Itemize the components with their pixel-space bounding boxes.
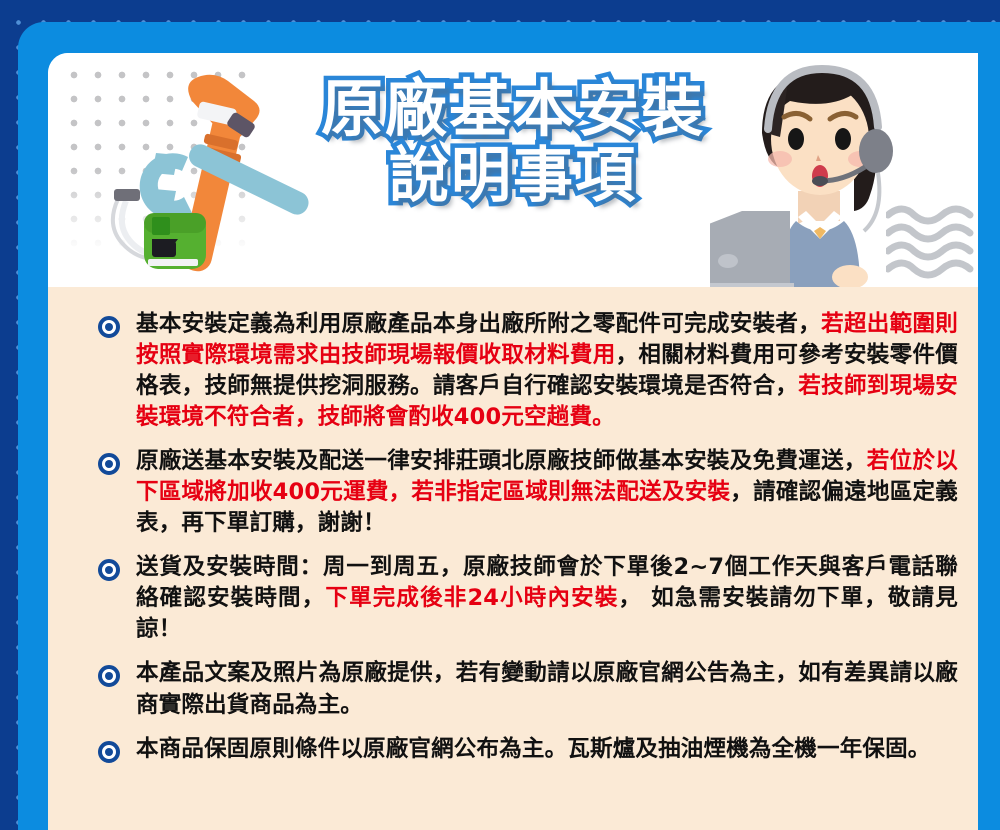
notice-item-delivery-schedule: 送貨及安裝時間：周一到周五，原廠技師會於下單後2~7個工作天與客戶電話聯絡確認安… [66,552,962,645]
notice-text: 基本安裝定義為利用原廠產品本身出廠所附之零配件可完成安裝者，若超出範圍則按照實際… [136,309,962,433]
notice-plain-segment: 原廠送基本安裝及配送一律安排莊頭北原廠技師做基本安裝及免費運送， [136,448,867,474]
bullet-target-icon [98,741,120,763]
notice-item-basic-installation-definition: 基本安裝定義為利用原廠產品本身出廠所附之零配件可完成安裝者，若超出範圍則按照實際… [66,309,962,433]
notice-item-product-copy-and-photos: 本產品文案及照片為原廠提供，若有變動請以原廠官網公告為主，如有差異請以廠商實際出… [66,658,962,720]
header-section: 原廠基本安裝 說明事項 [48,53,978,287]
notice-list: 基本安裝定義為利用原廠產品本身出廠所附之零配件可完成安裝者，若超出範圍則按照實際… [48,287,978,830]
notice-text: 本產品文案及照片為原廠提供，若有變動請以原廠官網公告為主，如有差異請以廠商實際出… [136,658,962,720]
bullet-target-icon [98,316,120,338]
content-card: 原廠基本安裝 說明事項 基本安裝定義為利用原廠產品本身出廠所附之零配件可完成安裝… [48,53,978,830]
bullet-target-icon [98,665,120,687]
tools-illustration [96,71,336,287]
notice-plain-segment: 基本安裝定義為利用原廠產品本身出廠所附之零配件可完成安裝者， [136,311,821,337]
notice-highlight-segment: 下單完成後非24小時內安裝 [325,585,618,611]
notice-text: 本商品保固原則條件以原廠官網公布為主。瓦斯爐及抽油煙機為全機一年保固。 [136,734,962,765]
notice-item-warranty-terms: 本商品保固原則條件以原廠官網公布為主。瓦斯爐及抽油煙機為全機一年保固。 [66,734,962,765]
notice-item-delivery-and-installation-arrangement: 原廠送基本安裝及配送一律安排莊頭北原廠技師做基本安裝及免費運送，若位於以下區域將… [66,446,962,539]
notice-plain-segment: 本產品文案及照片為原廠提供，若有變動請以原廠官網公告為主，如有差異請以廠商實際出… [136,660,958,717]
notice-text: 送貨及安裝時間：周一到周五，原廠技師會於下單後2~7個工作天與客戶電話聯絡確認安… [136,552,962,645]
sound-waves-decoration [886,203,978,287]
bullet-target-icon [98,559,120,581]
bullet-target-icon [98,453,120,475]
blue-frame: 原廠基本安裝 說明事項 基本安裝定義為利用原廠產品本身出廠所附之零配件可完成安裝… [18,22,1000,830]
installation-notice-banner: 原廠基本安裝 說明事項 基本安裝定義為利用原廠產品本身出廠所附之零配件可完成安裝… [0,0,1000,830]
notice-text: 原廠送基本安裝及配送一律安排莊頭北原廠技師做基本安裝及免費運送，若位於以下區域將… [136,446,962,539]
notice-plain-segment: 本商品保固原則條件以原廠官網公布為主。瓦斯爐及抽油煙機為全機一年保固。 [136,736,931,762]
